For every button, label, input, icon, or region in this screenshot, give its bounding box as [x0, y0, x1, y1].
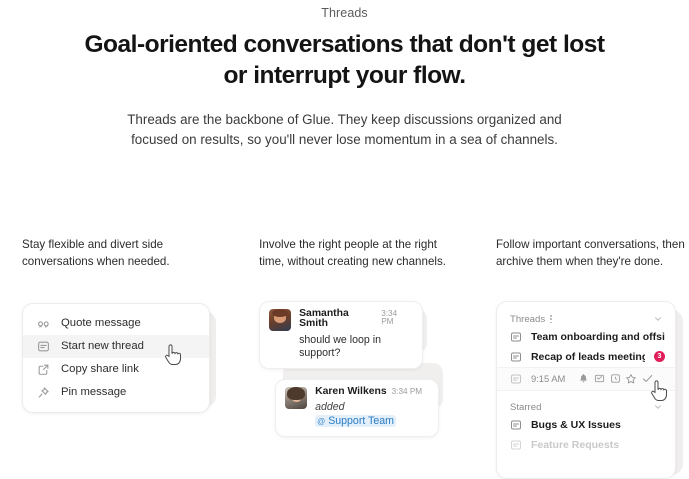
chevron-down-icon[interactable]: [653, 402, 663, 412]
message-body: Samantha Smith 3:34 PM should we loop in…: [299, 309, 410, 360]
page-title: Goal-oriented conversations that don't g…: [65, 30, 625, 92]
pointer-cursor-icon: [649, 380, 669, 402]
threads-panel-illustration: Threads Team onboarding and offsite pla.…: [496, 301, 682, 479]
thread-icon: [510, 351, 522, 363]
menu-item-pin-message[interactable]: Pin message: [23, 381, 209, 404]
thread-icon: [510, 419, 522, 431]
feature-column-involve: Involve the right people at the right ti…: [249, 236, 491, 476]
section-header-starred[interactable]: Starred: [497, 400, 675, 415]
column-caption-2: Involve the right people at the right ti…: [259, 236, 449, 271]
menu-item-label: Start new thread: [61, 340, 144, 352]
section-header-threads[interactable]: Threads: [497, 312, 675, 327]
thread-timestamp: 9:15 AM: [531, 373, 565, 384]
message-text: should we loop in support?: [299, 334, 410, 360]
thread-item-label: Team onboarding and offsite pla...: [531, 331, 665, 343]
feature-column-divert: Stay flexible and divert side conversati…: [0, 236, 249, 476]
subcopy-line-2: focused on results, so you'll never lose…: [131, 132, 558, 147]
thread-item-label: Feature Requests: [531, 439, 619, 451]
column-caption-3: Follow important conversations, then arc…: [496, 236, 686, 271]
thread-icon: [37, 340, 50, 353]
menu-item-quote-message[interactable]: Quote message: [23, 312, 209, 335]
message-card-karen[interactable]: Karen Wilkens 3:34 PM added @ Support Te…: [275, 379, 439, 437]
star-icon[interactable]: [623, 371, 639, 387]
thread-icon: [510, 373, 522, 385]
message-cards-illustration: Samantha Smith 3:34 PM should we loop in…: [259, 301, 479, 437]
menu-item-label: Quote message: [61, 317, 141, 329]
section-title: Starred: [510, 402, 541, 413]
message-timestamp: 3:34 PM: [381, 310, 410, 326]
feature-columns: Stay flexible and divert side conversati…: [0, 236, 689, 476]
thread-item-bugs-ux-issues[interactable]: Bugs & UX Issues: [497, 415, 675, 435]
eyebrow-label: Threads: [0, 6, 689, 20]
mention-chip-support-team[interactable]: @ Support Team: [315, 415, 396, 427]
menu-item-start-new-thread[interactable]: Start new thread: [23, 335, 209, 358]
thread-item-label: Bugs & UX Issues: [531, 419, 621, 431]
hero-section: Threads Goal-oriented conversations that…: [0, 0, 689, 151]
quote-icon: [37, 317, 50, 330]
page-root: Threads Goal-oriented conversations that…: [0, 0, 689, 476]
mention-at-symbol: @: [317, 417, 325, 426]
external-link-icon: [37, 363, 50, 376]
feature-column-archive: Follow important conversations, then arc…: [491, 236, 689, 476]
thread-icon: [510, 331, 522, 343]
message-author: Karen Wilkens: [315, 387, 387, 397]
threads-sidebar-panel: Threads Team onboarding and offsite pla.…: [496, 301, 676, 479]
thread-item-label: Recap of leads meeting and...: [531, 351, 645, 363]
menu-item-copy-share-link[interactable]: Copy share link: [23, 358, 209, 381]
message-card-samantha[interactable]: Samantha Smith 3:34 PM should we loop in…: [259, 301, 423, 369]
message-header: Karen Wilkens 3:34 PM: [315, 387, 426, 397]
thread-icon: [510, 439, 522, 451]
message-author: Samantha Smith: [299, 309, 376, 330]
thread-item-team-onboarding[interactable]: Team onboarding and offsite pla...: [497, 327, 675, 347]
message-body: Karen Wilkens 3:34 PM added @ Support Te…: [315, 387, 426, 428]
karen-avatar: [285, 387, 307, 409]
mark-unread-icon[interactable]: [591, 371, 607, 387]
menu-item-label: Pin message: [61, 386, 126, 398]
kebab-menu-icon[interactable]: [550, 315, 552, 323]
menu-item-label: Copy share link: [61, 363, 139, 375]
message-text-prefix: added: [315, 401, 344, 413]
section-title: Threads: [510, 314, 545, 325]
unread-count-badge: 3: [654, 351, 665, 362]
message-context-menu[interactable]: Quote message Start new thread: [22, 303, 210, 413]
message-text: added @ Support Team: [315, 401, 426, 427]
chevron-down-icon[interactable]: [653, 314, 663, 324]
thread-item-recap-leads[interactable]: Recap of leads meeting and... 3: [497, 347, 675, 367]
message-header: Samantha Smith 3:34 PM: [299, 309, 410, 330]
pin-icon: [37, 386, 50, 399]
headline-line-2: or interrupt your flow.: [223, 62, 465, 89]
bell-mute-icon[interactable]: [575, 371, 591, 387]
page-subcopy: Threads are the backbone of Glue. They k…: [95, 110, 595, 152]
message-timestamp: 3:34 PM: [392, 388, 423, 396]
samantha-avatar: [269, 309, 291, 331]
subcopy-line-1: Threads are the backbone of Glue. They k…: [127, 112, 561, 127]
headline-line-1: Goal-oriented conversations that don't g…: [84, 31, 604, 58]
column-caption-1: Stay flexible and divert side conversati…: [22, 236, 212, 271]
context-menu-illustration: Quote message Start new thread: [22, 303, 208, 413]
snooze-clock-icon[interactable]: [607, 371, 623, 387]
mention-label: Support Team: [328, 415, 394, 427]
thread-item-feature-requests[interactable]: Feature Requests: [497, 435, 675, 455]
